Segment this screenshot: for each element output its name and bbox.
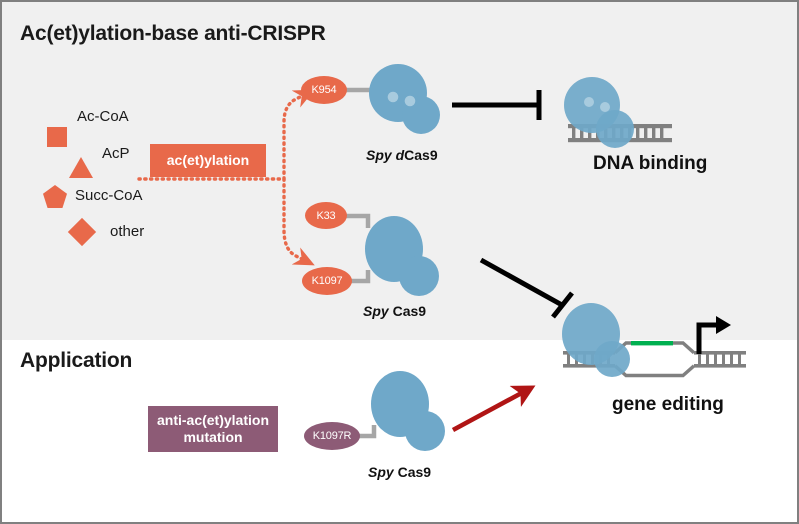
protein-name-spy-cas9: Spy Cas9 xyxy=(363,303,426,319)
outcome-label-dna-binding: DNA binding xyxy=(593,153,707,175)
mutation-box-text: anti-ac(et)ylation mutation xyxy=(157,412,269,447)
triangle-icon xyxy=(69,157,93,178)
section-title-application: Application xyxy=(20,349,132,373)
residue-label-k33[interactable]: K33 xyxy=(305,202,347,229)
protein-name-spy-cas9-mutant: Spy Cas9 xyxy=(368,464,431,480)
protein-name-spy-dcas9: Spy dCas9 xyxy=(366,147,438,163)
residue-label-k1097[interactable]: K1097 xyxy=(302,267,352,295)
process-box-acetylation[interactable]: ac(et)ylation xyxy=(150,144,266,177)
square-icon xyxy=(47,127,67,147)
figure-container: Ac(et)ylation-base anti-CRISPR Applicati… xyxy=(0,0,799,524)
protein-dead-prefix: d xyxy=(396,147,405,163)
legend-label-succ-coa: Succ-CoA xyxy=(75,187,143,204)
legend-item-acp: AcP xyxy=(69,157,93,183)
mutation-box-line1: anti-ac(et)ylation xyxy=(157,412,269,428)
section-title-anti-crispr: Ac(et)ylation-base anti-CRISPR xyxy=(20,22,326,46)
mutation-box-anti-acetylation[interactable]: anti-ac(et)ylation mutation xyxy=(148,406,278,452)
protein-genus-spy: Spy xyxy=(363,303,393,319)
legend-label-other: other xyxy=(110,223,144,240)
mutation-box-line2: mutation xyxy=(183,429,242,445)
legend-label-acp: AcP xyxy=(102,145,130,162)
protein-base-name: Cas9 xyxy=(404,147,437,163)
protein-genus-spy: Spy xyxy=(366,147,396,163)
residue-label-k1097r[interactable]: K1097R xyxy=(304,422,360,450)
legend-label-ac-coa: Ac-CoA xyxy=(77,108,129,125)
protein-base-name: Cas9 xyxy=(398,464,431,480)
protein-genus-spy: Spy xyxy=(368,464,398,480)
outcome-label-gene-editing: gene editing xyxy=(612,394,724,416)
residue-label-k954[interactable]: K954 xyxy=(301,76,347,104)
protein-base-name: Cas9 xyxy=(393,303,426,319)
